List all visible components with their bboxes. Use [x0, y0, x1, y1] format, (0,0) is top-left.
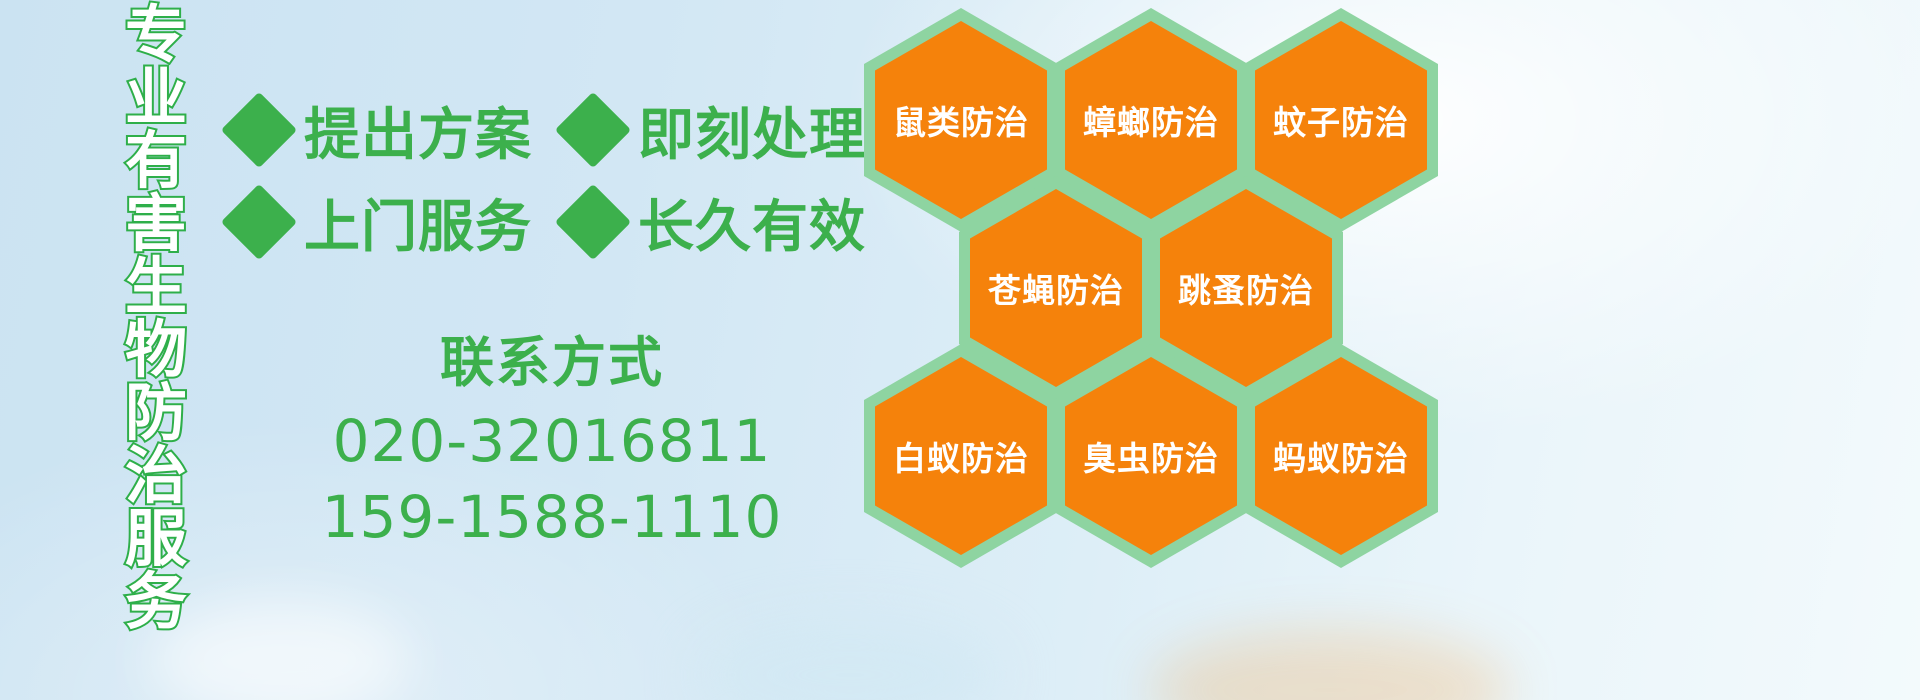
contact-block: 联系方式 020-32016811 159-1588-1110: [232, 318, 872, 555]
vertical-title-char: 务: [125, 571, 187, 633]
feature-row: 提出方案 即刻处理: [232, 84, 872, 176]
diamond-icon: [555, 92, 631, 168]
background-blob-right: [1150, 630, 1510, 700]
vertical-title-char: 害: [125, 193, 187, 255]
vertical-title-char: 防: [125, 382, 187, 444]
diamond-icon: [221, 184, 297, 260]
service-hex-label: 蚂蚁防治: [1273, 432, 1409, 480]
vertical-title-char: 物: [125, 319, 187, 381]
service-hex-ant[interactable]: 蚂蚁防治: [1244, 344, 1438, 568]
pest-control-banner: 专 业 有 害 生 物 防 治 服 务 提出方案 即刻处理 上门服务: [0, 0, 1920, 700]
background-blob-left: [150, 600, 410, 700]
feature-list: 提出方案 即刻处理 上门服务 长久有效: [232, 84, 872, 268]
vertical-title: 专 业 有 害 生 物 防 治 服 务: [104, 4, 208, 584]
feature-label: 上门服务: [304, 182, 532, 263]
vertical-title-char: 生: [125, 256, 187, 318]
feature-item: 提出方案: [232, 90, 532, 171]
service-hex-label: 跳蚤防治: [1178, 264, 1314, 312]
service-hex-label: 苍蝇防治: [988, 264, 1124, 312]
service-hex-termite[interactable]: 白蚁防治: [864, 344, 1058, 568]
service-hex-label: 鼠类防治: [893, 96, 1029, 144]
service-hex-label: 蟑螂防治: [1083, 96, 1219, 144]
phone-number-landline[interactable]: 020-32016811: [232, 403, 872, 479]
vertical-title-char: 业: [125, 67, 187, 129]
feature-item: 上门服务: [232, 182, 532, 263]
service-honeycomb: 鼠类防治 蟑螂防治 蚊子防治 苍蝇防治 跳蚤防治 白蚁防治: [858, 0, 1458, 560]
feature-row: 上门服务 长久有效: [232, 176, 872, 268]
diamond-icon: [555, 184, 631, 260]
phone-number-mobile[interactable]: 159-1588-1110: [232, 479, 872, 555]
service-hex-label: 臭虫防治: [1083, 432, 1219, 480]
vertical-title-char: 服: [125, 508, 187, 570]
feature-item: 长久有效: [566, 182, 866, 263]
contact-title: 联系方式: [232, 318, 872, 397]
vertical-title-char: 有: [125, 130, 187, 192]
background-blob-mid: [700, 620, 1000, 700]
vertical-title-char: 专: [125, 4, 187, 66]
diamond-icon: [221, 92, 297, 168]
feature-label: 即刻处理: [638, 90, 866, 171]
service-hex-bedbug[interactable]: 臭虫防治: [1054, 344, 1248, 568]
feature-label: 提出方案: [304, 90, 532, 171]
service-hex-label: 蚊子防治: [1273, 96, 1409, 144]
service-hex-label: 白蚁防治: [893, 432, 1029, 480]
feature-item: 即刻处理: [566, 90, 866, 171]
feature-label: 长久有效: [638, 182, 866, 263]
vertical-title-char: 治: [125, 445, 187, 507]
